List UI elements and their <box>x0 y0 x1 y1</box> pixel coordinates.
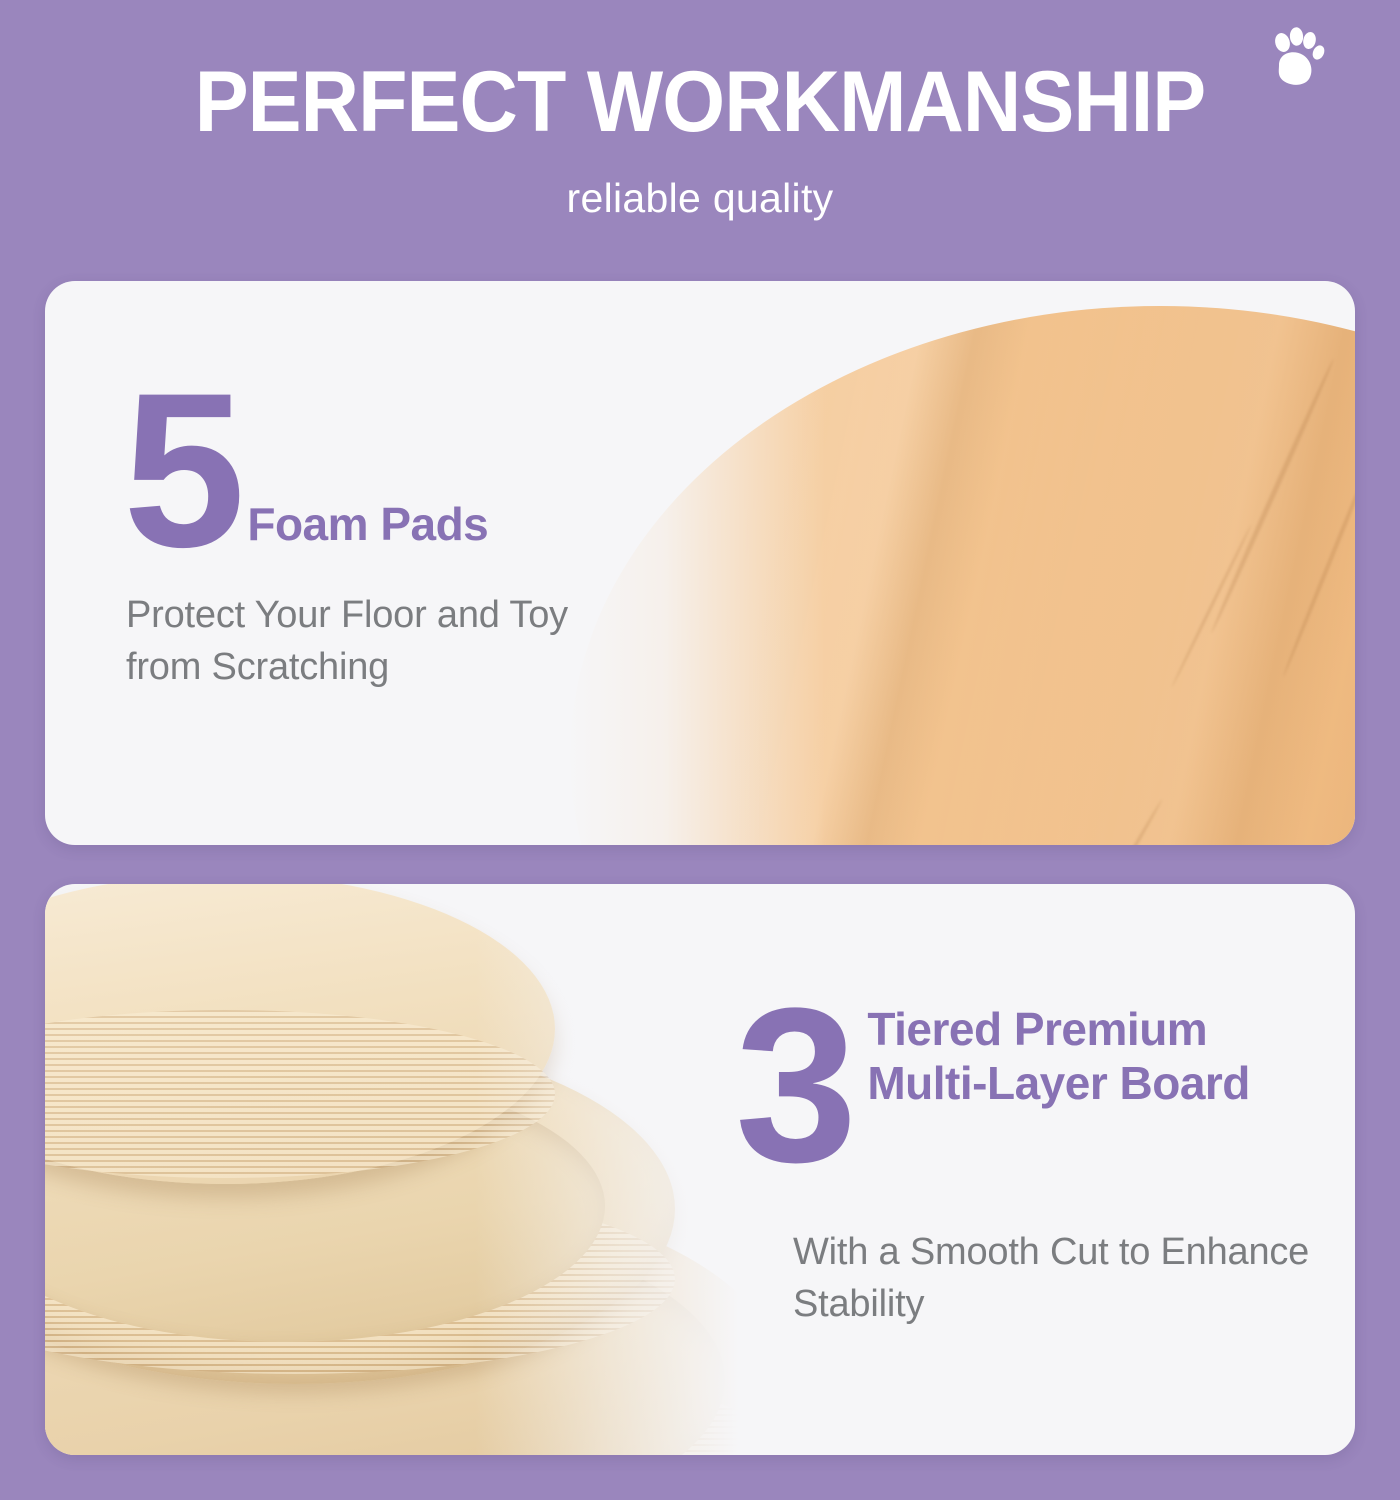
feature-heading-tiered-board: Tiered Premium Multi-Layer Board <box>851 996 1297 1110</box>
feature-number-foam-pads: 5 <box>123 377 239 563</box>
page-title: PERFECT WORKMANSHIP <box>42 54 1358 150</box>
paw-print-icon <box>1269 27 1325 89</box>
page-subtitle: reliable quality <box>0 172 1400 224</box>
wood-grain-line <box>1332 615 1355 845</box>
feature-headline-row: 3 Tiered Premium Multi-Layer Board <box>735 996 1335 1190</box>
tiered-toy-image <box>45 884 765 1455</box>
product-infographic: PERFECT WORKMANSHIP reliable quality <box>0 0 1400 1500</box>
feature-text-block-tiered-board: 3 Tiered Premium Multi-Layer Board With … <box>735 996 1335 1330</box>
wooden-disc-image <box>565 281 1355 845</box>
header-banner: PERFECT WORKMANSHIP reliable quality <box>0 0 1400 268</box>
feature-description-foam-pads: Protect Your Floor and Toy from Scratchi… <box>126 589 646 693</box>
wood-grain-line <box>1281 435 1355 678</box>
feature-description-tiered-board: With a Smooth Cut to Enhance Stability <box>793 1226 1353 1330</box>
wood-disc-shape <box>570 306 1355 845</box>
feature-headline-row: 5 Foam Pads <box>123 377 683 563</box>
wood-grain-line <box>1060 798 1163 845</box>
feature-heading-foam-pads: Foam Pads <box>239 497 488 563</box>
feature-number-tiered-board: 3 <box>735 980 851 1190</box>
feature-card-tiered-board: 3 Tiered Premium Multi-Layer Board With … <box>45 884 1355 1455</box>
feature-text-block-foam-pads: 5 Foam Pads Protect Your Floor and Toy f… <box>123 377 683 693</box>
wood-grain-line <box>1171 524 1253 687</box>
feature-card-foam-pads: 5 Foam Pads Protect Your Floor and Toy f… <box>45 281 1355 845</box>
